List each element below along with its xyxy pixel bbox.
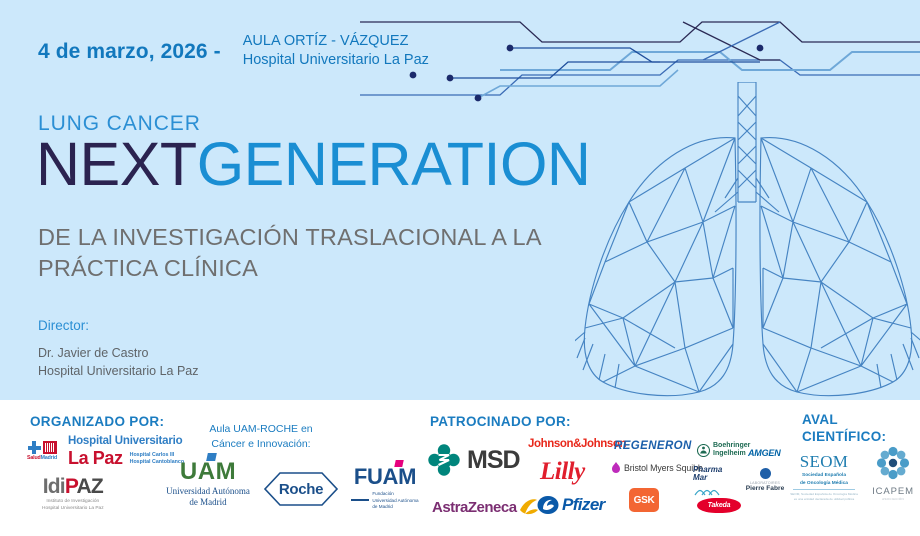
logo-amgen: AMGEN (748, 448, 781, 458)
fuam-wordmark: FUAM (354, 466, 416, 488)
uam-sub1: Universidad Autónoma (152, 486, 264, 497)
aval-line2: CIENTÍFICO: (802, 429, 886, 446)
idipaz-sub1: Instituto de Investigación (42, 499, 104, 506)
msd-wordmark: MSD (467, 446, 520, 475)
aula-uam-roche-heading: Aula UAM-ROCHE en Cáncer e Innovación: (196, 422, 326, 452)
boehringer-seal-icon (697, 444, 710, 457)
director-label: Director: (38, 318, 89, 333)
page-title: NEXTGENERATION (36, 134, 590, 195)
bms-flame-icon (611, 462, 621, 473)
astrazeneca-swirl-icon (517, 496, 539, 518)
seom-divider (793, 489, 855, 490)
fuam-sub3: de Madrid (372, 504, 418, 511)
logo-takeda: Takeda (697, 498, 741, 513)
logo-icapem: ICAPEM ASOCIACIÓN (866, 446, 920, 501)
subtitle-line-1: DE LA INVESTIGACIÓN TRASLACIONAL A LA (38, 222, 578, 253)
boehringer-wordmark: Boehringer Ingelheim (713, 442, 750, 459)
organized-by-heading: ORGANIZADO POR: (30, 414, 205, 431)
pierre-fabre-dot-icon (760, 468, 771, 479)
logo-idipaz: IdiPAZ Instituto de Investigación Hospit… (42, 476, 104, 513)
lung-wireframe-illustration (575, 82, 920, 400)
la-paz-line1: Hospital Universitario (68, 436, 184, 448)
salud-madrid-mark: SaludMadrid (22, 441, 62, 461)
title-next: NEXT (36, 130, 197, 198)
la-paz-line2: La Paz (68, 449, 123, 467)
seom-sub2: de Oncología Médica (787, 481, 861, 488)
uam-flag-icon (206, 453, 217, 461)
aula-heading-line2: Cáncer e Innovación: (196, 437, 326, 452)
icapem-sub: ASOCIACIÓN (866, 497, 920, 501)
bms-wordmark: Bristol Myers Squibb (624, 463, 703, 473)
logo-astrazeneca: AstraZeneca (432, 496, 539, 518)
pfizer-wordmark: Pfizer (562, 495, 605, 515)
logo-boehringer-ingelheim: Boehringer Ingelheim (697, 442, 750, 459)
pierre-fabre-wordmark: Pierre Fabre (741, 485, 789, 492)
sponsors-footer: ORGANIZADO POR: SaludMadrid Hospital Uni… (0, 400, 920, 536)
event-date: 4 de marzo, 2026 - (38, 32, 221, 62)
fuam-sub2: Universidad Autónoma (372, 498, 418, 505)
pharmamar-waves-icon (693, 487, 723, 496)
logo-roche: Roche (264, 472, 338, 506)
logo-seom: SEOM Sociedad Española de Oncología Médi… (787, 452, 861, 501)
aval-line1: AVAL (802, 412, 886, 429)
director-name: Dr. Javier de Castro (38, 345, 199, 363)
logo-msd: MSD (428, 444, 520, 476)
salud-madrid-text: SaludMadrid (22, 455, 62, 461)
icapem-flower-icon (876, 446, 910, 480)
venue-line-2: Hospital Universitario La Paz (243, 51, 429, 70)
roche-wordmark: Roche (264, 472, 338, 506)
uam-sublines: Universidad Autónoma de Madrid (152, 486, 264, 508)
title-generation: GENERATION (197, 130, 591, 198)
logo-gsk: GSK (629, 488, 659, 512)
logo-fuam: FUAM Fundación Universidad Autónoma de M… (348, 466, 422, 511)
boehringer-line2: Ingelheim (713, 450, 750, 458)
event-venue: AULA ORTÍZ - VÁZQUEZ Hospital Universita… (243, 32, 429, 70)
astrazeneca-wordmark: AstraZeneca (432, 499, 517, 516)
idipaz-sublines: Instituto de Investigación Hospital Univ… (42, 499, 104, 513)
director-affiliation: Hospital Universitario La Paz (38, 363, 199, 381)
event-poster: 4 de marzo, 2026 - AULA ORTÍZ - VÁZQUEZ … (0, 0, 920, 536)
logo-regeneron: REGENERON (614, 440, 692, 452)
logo-bristol-myers-squibb: Bristol Myers Squibb (611, 462, 703, 473)
hero-section: 4 de marzo, 2026 - AULA ORTÍZ - VÁZQUEZ … (0, 0, 920, 400)
subtitle-line-2: PRÁCTICA CLÍNICA (38, 253, 578, 284)
madrid-shield-icon (43, 441, 57, 454)
logo-uam: UAM Universidad Autónoma de Madrid (152, 460, 264, 508)
logo-pharmamar: Pharma Mar (693, 466, 723, 501)
aula-heading-line1: Aula UAM-ROCHE en (196, 422, 326, 437)
pfizer-oval-icon (537, 495, 559, 515)
fuam-rule (351, 499, 369, 501)
icapem-wordmark: ICAPEM (866, 486, 920, 497)
uam-wordmark: UAM (180, 460, 236, 484)
seom-sub1: Sociedad Española (787, 473, 861, 480)
la-paz-sub1: Hospital Carlos III (130, 452, 184, 459)
boehringer-line1: Boehringer (713, 442, 750, 450)
sponsored-by-heading: PATROCINADO POR: (430, 414, 571, 431)
logo-johnson-and-johnson: Johnson&Johnson (528, 438, 626, 450)
logo-pfizer: Pfizer (537, 495, 605, 515)
idipaz-sub2: Hospital Universitario La Paz (42, 506, 104, 513)
page-subtitle: DE LA INVESTIGACIÓN TRASLACIONAL A LA PR… (38, 222, 578, 285)
msd-cross-icon (428, 444, 460, 476)
idipaz-wordmark: IdiPAZ (42, 476, 104, 497)
seom-sub4: es una entidad declarada de utilidad púb… (787, 497, 861, 501)
logo-pierre-fabre: LABORATOIRES Pierre Fabre (741, 468, 789, 492)
logo-lilly: Lilly (540, 458, 585, 486)
seom-wordmark: SEOM (787, 452, 861, 472)
venue-line-1: AULA ORTÍZ - VÁZQUEZ (243, 32, 429, 51)
salud-madrid-icons (22, 441, 62, 454)
pharmamar-line2: Mar (693, 474, 723, 482)
director-info: Dr. Javier de Castro Hospital Universita… (38, 345, 199, 381)
scientific-endorsement-heading: AVAL CIENTÍFICO: (802, 412, 886, 446)
medical-cross-icon (28, 441, 41, 454)
fuam-sub1: Fundación (372, 491, 418, 498)
uam-sub2: de Madrid (152, 497, 264, 508)
fuam-sublines: Fundación Universidad Autónoma de Madrid (372, 491, 418, 511)
date-venue-row: 4 de marzo, 2026 - AULA ORTÍZ - VÁZQUEZ … (38, 32, 429, 70)
